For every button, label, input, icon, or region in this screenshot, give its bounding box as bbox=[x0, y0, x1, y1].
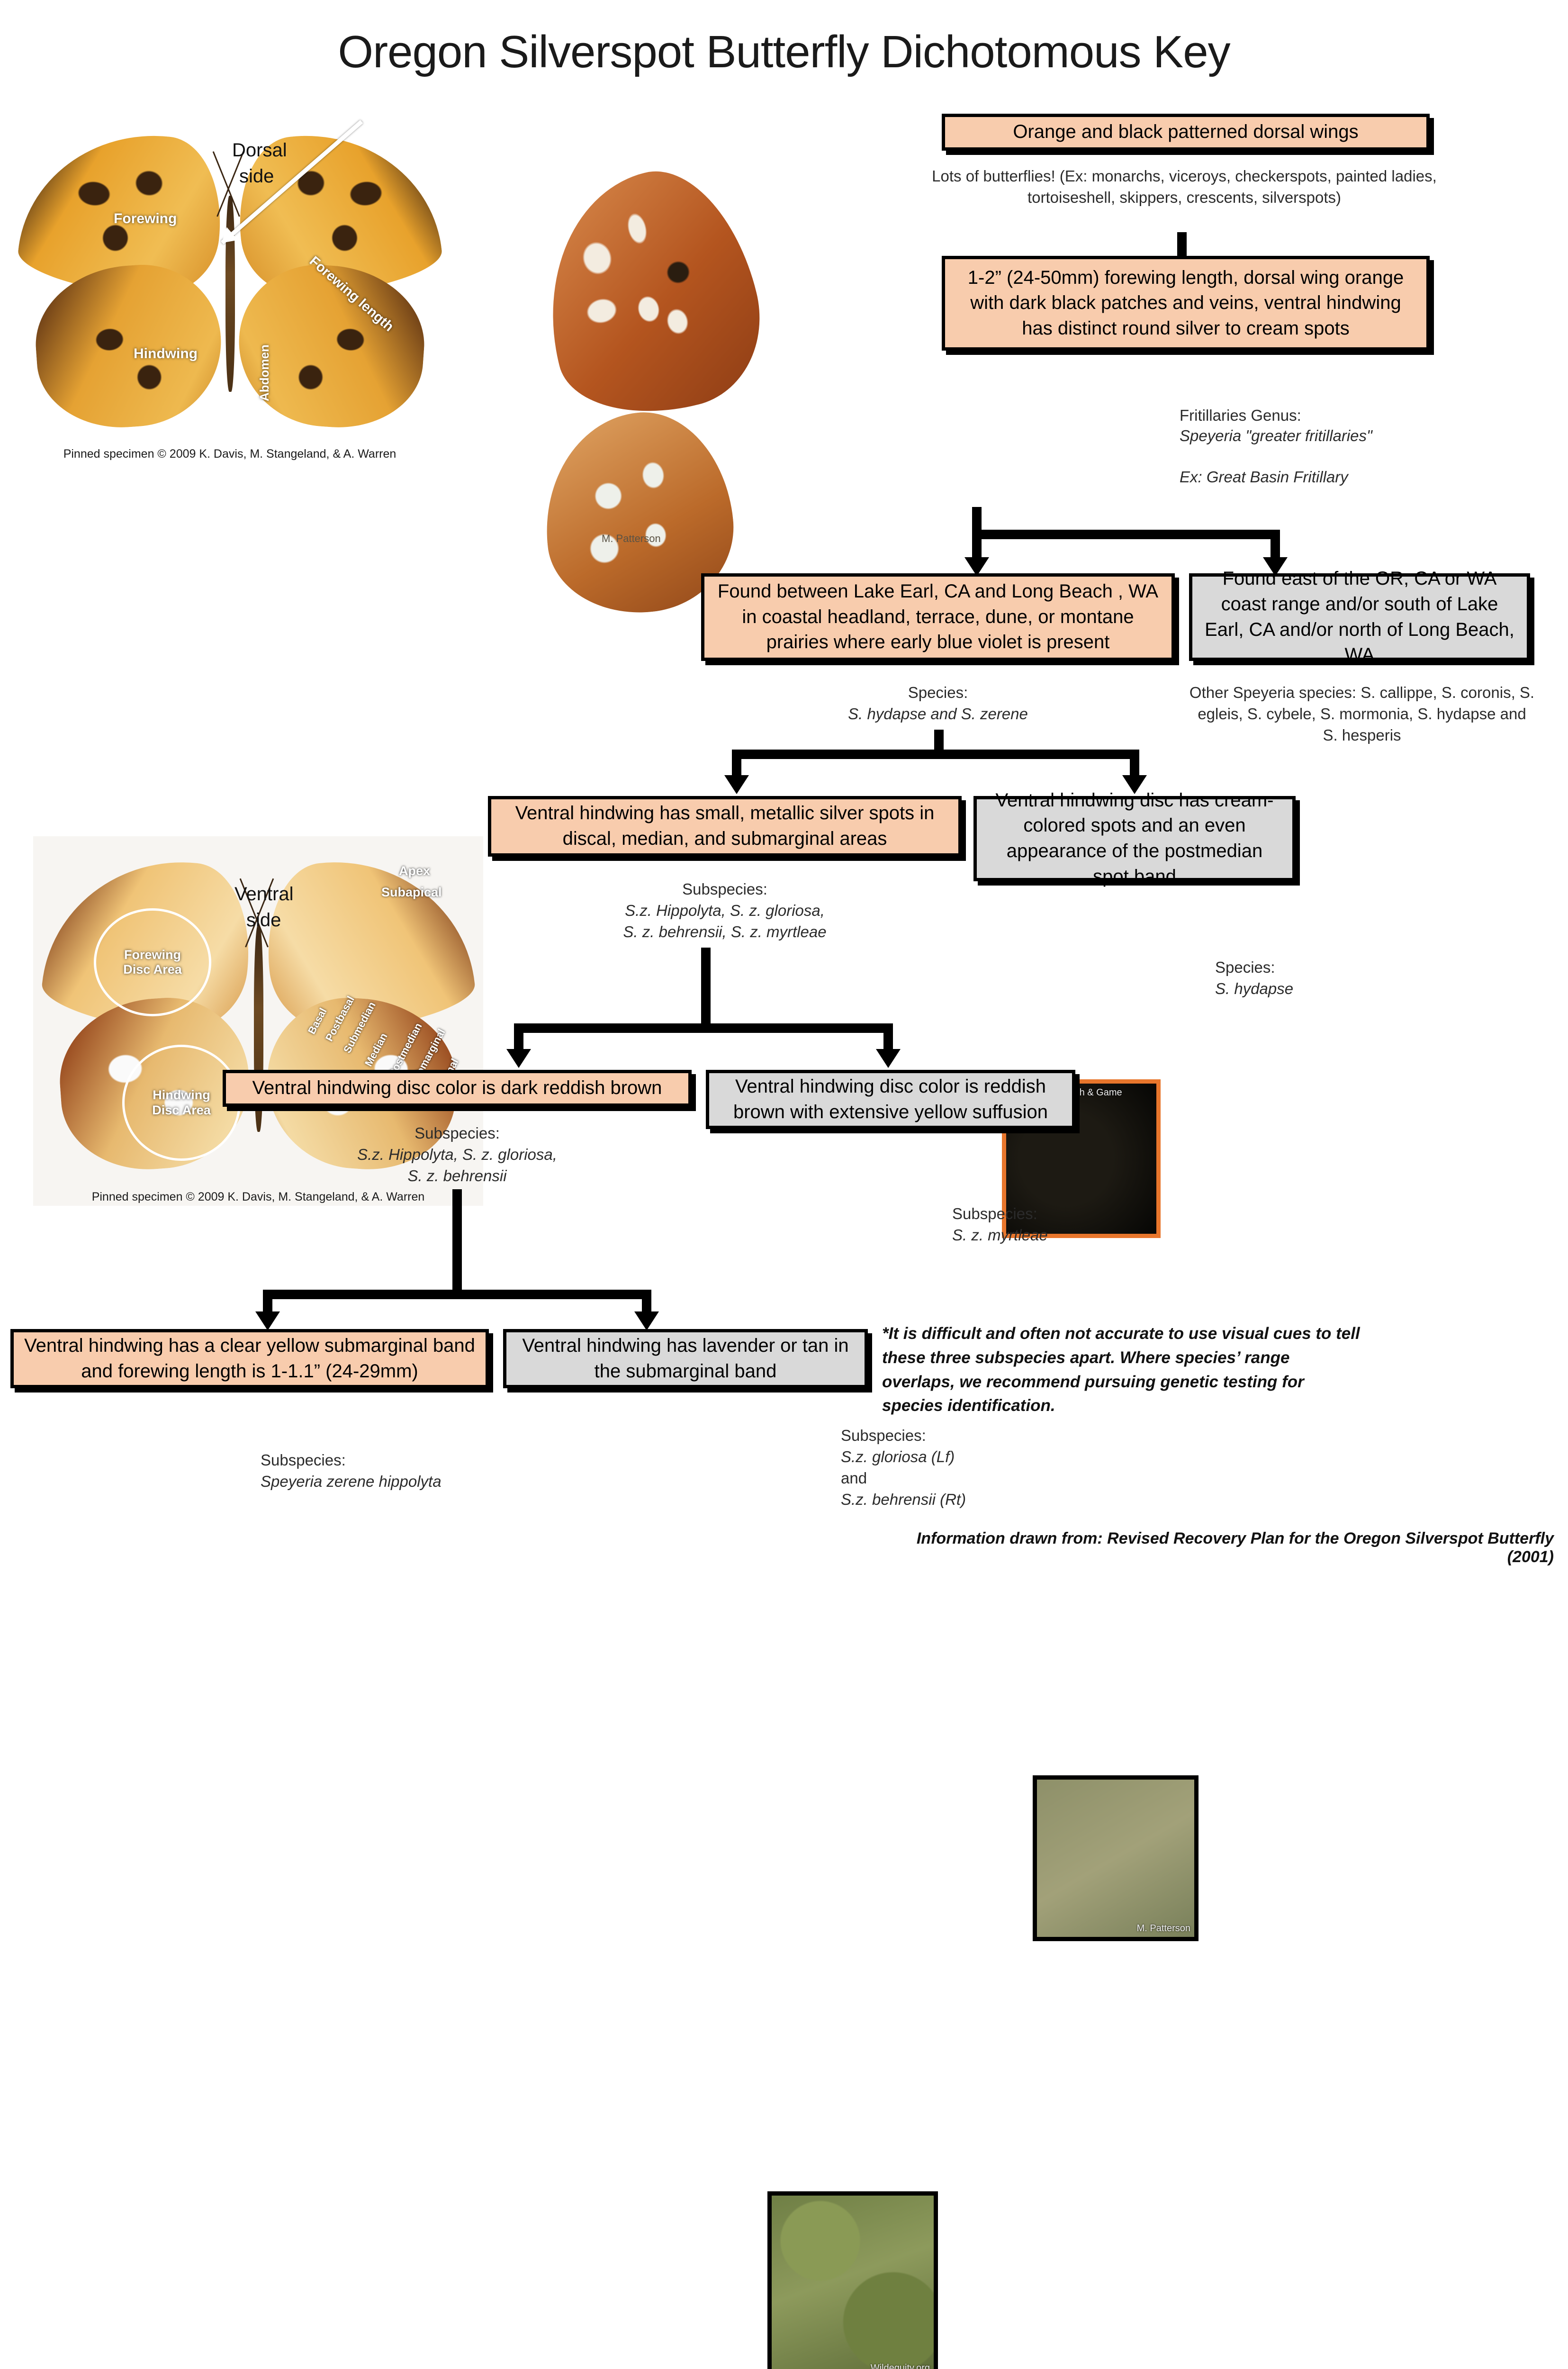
arrow-to-step5-right bbox=[876, 1049, 901, 1068]
step6-left-box[interactable]: Ventral hindwing has a clear yellow subm… bbox=[10, 1329, 489, 1388]
connector-step3-right-stem bbox=[1271, 530, 1280, 559]
step6-right-box[interactable]: Ventral hindwing has lavender or tan in … bbox=[503, 1329, 868, 1388]
step5-right-caption-label: Subspecies: bbox=[952, 1203, 1151, 1225]
step4-left-caption-line2: S. z. behrensii, S. z. myrtleae bbox=[583, 922, 867, 943]
step1-note: Lots of butterflies! (Ex: monarchs, vice… bbox=[931, 166, 1438, 208]
step4-right-caption-label: Species: bbox=[1215, 957, 1414, 978]
step6-left-caption-value: Speyeria zerene hippolyta bbox=[261, 1471, 526, 1492]
connector-step5-trunk bbox=[452, 1189, 462, 1294]
connector-step6-left-stem bbox=[263, 1290, 272, 1314]
s-z-myrtleae-photo-credit: Wildequity.org bbox=[871, 2363, 930, 2369]
dorsal-abdomen-label: Abdomen bbox=[257, 344, 272, 401]
fritillaries-example: Ex: Great Basin Fritillary bbox=[1180, 467, 1445, 488]
step3-right-caption: Other Speyeria species: S. callippe, S. … bbox=[1189, 682, 1535, 746]
footnote: *It is difficult and often not accurate … bbox=[882, 1322, 1365, 1418]
source-credit: Information drawn from: Revised Recovery… bbox=[895, 1529, 1554, 1566]
dorsal-specimen-credit: Pinned specimen © 2009 K. Davis, M. Stan… bbox=[9, 447, 450, 461]
step4-left-caption-label: Subspecies: bbox=[583, 879, 867, 900]
forewing-disc-label-line2: Disc Area bbox=[123, 962, 182, 977]
hero-butterfly-illustration bbox=[545, 175, 905, 559]
ventral-apex-label: Apex bbox=[399, 864, 430, 878]
step3-left-caption-value: S. hydapse and S. zerene bbox=[796, 704, 1080, 725]
step1-box[interactable]: Orange and black patterned dorsal wings bbox=[942, 114, 1430, 151]
s-hydapse-photo: M. Patterson bbox=[1033, 1775, 1199, 1941]
step4-right-box[interactable]: Ventral hindwing disc has cream-colored … bbox=[973, 796, 1296, 881]
step6-left-caption-label: Subspecies: bbox=[261, 1450, 526, 1471]
ventral-specimen-credit: Pinned specimen © 2009 K. Davis, M. Stan… bbox=[33, 1190, 483, 1204]
ventral-side-label-line1: Ventral bbox=[234, 884, 294, 905]
connector-step3-split bbox=[732, 750, 1139, 759]
step5-right-box[interactable]: Ventral hindwing disc color is reddish b… bbox=[706, 1070, 1075, 1129]
ventral-subapical-label: Subapical bbox=[381, 885, 442, 900]
s-z-myrtleae-illustration bbox=[772, 2196, 934, 2369]
step5-left-caption-line2: S. z. behrensii bbox=[315, 1166, 599, 1187]
arrow-to-step5-left bbox=[506, 1049, 531, 1068]
step3-right-box[interactable]: Found east of the OR, CA or WA coast ran… bbox=[1189, 573, 1530, 661]
connector-step5-split bbox=[263, 1290, 651, 1299]
step5-left-caption-line1: S.z. Hippolyta, S. z. gloriosa, bbox=[315, 1144, 599, 1166]
dorsal-hindwing-label: Hindwing bbox=[134, 346, 198, 362]
step6-right-caption-line3: S.z. behrensii (Rt) bbox=[841, 1489, 1045, 1510]
connector-step5-left-stem bbox=[514, 1023, 523, 1051]
connector-step6-right-stem bbox=[642, 1290, 651, 1314]
s-hydapse-photo-credit: M. Patterson bbox=[1137, 1923, 1190, 1934]
page-title: Oregon Silverspot Butterfly Dichotomous … bbox=[0, 26, 1568, 78]
dorsal-butterfly-illustration bbox=[9, 111, 450, 462]
step5-left-box[interactable]: Ventral hindwing disc color is dark redd… bbox=[223, 1070, 692, 1107]
step6-right-caption-line2: and bbox=[841, 1468, 1045, 1489]
s-hydapse-illustration bbox=[1037, 1780, 1194, 1937]
hindwing-disc-label-line1: Hindwing bbox=[152, 1088, 211, 1103]
step3-left-box[interactable]: Found between Lake Earl, CA and Long Bea… bbox=[701, 573, 1175, 661]
step4-left-box[interactable]: Ventral hindwing has small, metallic sil… bbox=[488, 796, 962, 857]
connector-step2-split bbox=[972, 530, 1280, 539]
dorsal-forewing-label: Forewing bbox=[114, 211, 177, 227]
fritillaries-genus-label: Fritillaries Genus: bbox=[1180, 405, 1445, 426]
step4-right-caption-value: S. hydapse bbox=[1215, 978, 1414, 1000]
arrow-to-step6-left bbox=[255, 1311, 280, 1330]
hindwing-disc-label-line2: Disc Area bbox=[152, 1103, 211, 1118]
hero-butterfly-photo: M. Patterson bbox=[545, 175, 905, 559]
arrow-to-step4-left bbox=[724, 775, 749, 794]
step3-left-caption-label: Species: bbox=[796, 682, 1080, 704]
step2-box[interactable]: 1-2” (24-50mm) forewing length, dorsal w… bbox=[942, 256, 1430, 351]
dorsal-side-label-line2: side bbox=[239, 166, 274, 187]
arrow-to-step6-right bbox=[634, 1311, 659, 1330]
dorsal-side-label-line1: Dorsal bbox=[232, 140, 287, 161]
s-z-myrtleae-photo: Wildequity.org bbox=[767, 2191, 938, 2369]
connector-step4-trunk bbox=[701, 948, 711, 1028]
step5-left-caption-label: Subspecies: bbox=[315, 1123, 599, 1144]
connector-step3-left-stem bbox=[972, 530, 982, 559]
dorsal-specimen-figure: Dorsal side Forewing Hindwing Abdomen Fo… bbox=[9, 111, 450, 462]
step6-right-caption-line1: S.z. gloriosa (Lf) bbox=[841, 1447, 1045, 1468]
connector-step5-right-stem bbox=[883, 1023, 893, 1051]
connector-step4-right-stem bbox=[1130, 750, 1139, 777]
fritillaries-genus-name: Speyeria "greater fritillaries" bbox=[1180, 425, 1445, 447]
step5-right-caption-value: S. z. myrtleae bbox=[952, 1225, 1151, 1246]
step6-right-caption-label: Subspecies: bbox=[841, 1425, 1045, 1447]
step4-left-caption-line1: S.z. Hippolyta, S. z. gloriosa, bbox=[583, 900, 867, 922]
connector-step4-left-stem bbox=[732, 750, 741, 777]
connector-step4-split bbox=[514, 1023, 893, 1033]
forewing-disc-area-ring: Forewing Disc Area bbox=[94, 908, 211, 1016]
forewing-disc-label-line1: Forewing bbox=[123, 948, 182, 962]
ventral-side-label-line2: side bbox=[246, 910, 281, 931]
hero-photo-credit: M. Patterson bbox=[602, 533, 661, 545]
